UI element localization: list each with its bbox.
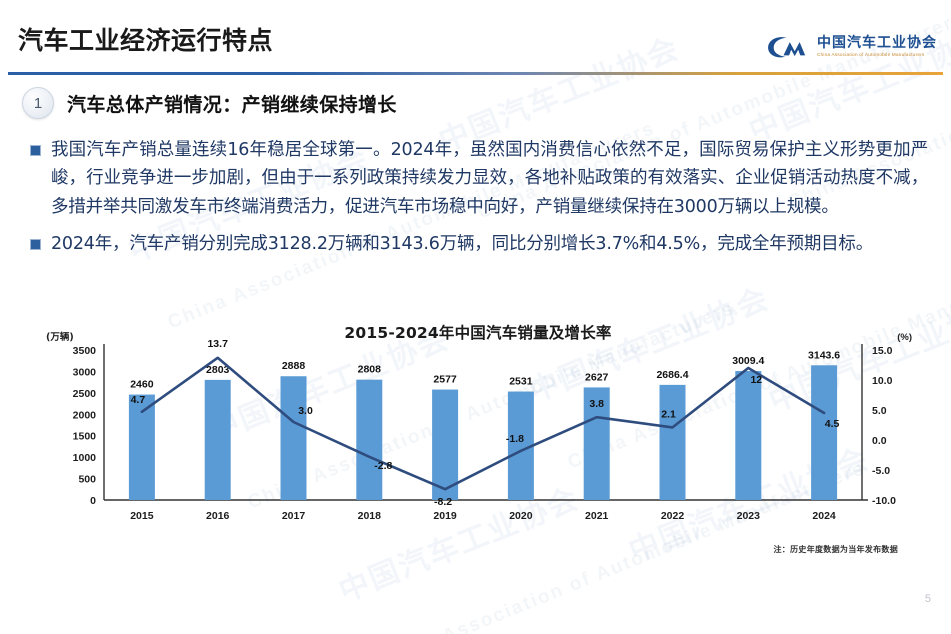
section-title: 汽车总体产销情况：产销继续保持增长 xyxy=(67,90,397,117)
chart-label: 2577 xyxy=(433,374,457,386)
list-item: 我国汽车产销总量连续16年稳居全球第一。2024年，虽然国内消费信心依然不足，国… xyxy=(30,136,928,221)
chart-label: 2627 xyxy=(585,371,609,383)
chart-container: 2015-2024年中国汽车销量及增长率 (万辆) (%) 3500300025… xyxy=(42,318,914,573)
section-number-badge: 1 xyxy=(22,87,54,119)
chart-label: 2460 xyxy=(130,379,154,391)
chart-label: 2022 xyxy=(661,510,685,522)
chart-label: -10.0 xyxy=(872,495,896,507)
title-divider xyxy=(8,72,943,75)
chart-label: -5.0 xyxy=(872,465,890,477)
bullet-text: 我国汽车产销总量连续16年稳居全球第一。2024年，虽然国内消费信心依然不足，国… xyxy=(51,136,928,221)
chart-label: 1000 xyxy=(73,452,97,464)
slide-header: 汽车工业经济运行特点 中国汽车工业协会 China Association of… xyxy=(0,0,951,76)
chart-label: 2021 xyxy=(585,510,609,522)
bar xyxy=(356,380,382,500)
chart-label: 2686.4 xyxy=(656,369,688,381)
page-title: 汽车工业经济运行特点 xyxy=(18,28,273,53)
chart-label: 2020 xyxy=(509,510,533,522)
chart-label: 3009.4 xyxy=(732,355,764,367)
growth-rate-line xyxy=(142,358,824,489)
bar xyxy=(660,385,686,500)
chart-label: 500 xyxy=(78,474,96,486)
brand-name-en: China Association of Automobile Manufact… xyxy=(817,53,937,58)
chart-label: 2531 xyxy=(509,376,533,388)
brand-text: 中国汽车工业协会 China Association of Automobile… xyxy=(817,36,937,58)
bullet-list: 我国汽车产销总量连续16年稳居全球第一。2024年，虽然国内消费信心依然不足，国… xyxy=(30,136,928,267)
square-bullet-icon xyxy=(30,145,41,156)
chart-label: -2.8 xyxy=(374,460,392,472)
chart-label: 3.0 xyxy=(298,405,313,417)
chart-label: 3000 xyxy=(73,366,97,378)
chart-plot: 350030002500200015001000500015.010.05.00… xyxy=(42,318,914,543)
chart-label: 4.5 xyxy=(825,418,840,430)
bar xyxy=(281,376,307,500)
chart-label: 2500 xyxy=(73,388,97,400)
chart-label: 0.0 xyxy=(872,435,887,447)
chart-label: 2024 xyxy=(812,510,836,522)
square-bullet-icon xyxy=(30,239,41,250)
chart-label: 2018 xyxy=(358,510,382,522)
chart-label: 2000 xyxy=(73,409,97,421)
chart-label: 1500 xyxy=(73,431,97,443)
chart-label: 3500 xyxy=(73,345,97,357)
chart-label: 2019 xyxy=(433,510,457,522)
chart-label: 2016 xyxy=(206,510,230,522)
section-heading: 1 汽车总体产销情况：产销继续保持增长 xyxy=(22,87,397,119)
slide: 中国汽车工业协会 China Association of Automobile… xyxy=(0,0,951,634)
chart-label: 3143.6 xyxy=(808,349,840,361)
chart-label: 3.8 xyxy=(589,398,604,410)
chart-label: 2888 xyxy=(282,360,306,372)
chart-label: 12 xyxy=(750,374,762,386)
chart-label: -1.8 xyxy=(506,433,524,445)
chart-label: 2017 xyxy=(282,510,306,522)
chart-label: 2.1 xyxy=(661,408,676,420)
chart-label: -8.2 xyxy=(434,496,452,508)
chart-label: 4.7 xyxy=(131,394,146,406)
brand-name-cn: 中国汽车工业协会 xyxy=(817,36,937,51)
chart-label: 13.7 xyxy=(207,338,228,350)
bullet-text: 2024年，汽车产销分别完成3128.2万辆和3143.6万辆，同比分别增长3.… xyxy=(51,230,873,258)
chart-label: 5.0 xyxy=(872,405,887,417)
chart-label: 2023 xyxy=(737,510,761,522)
bar xyxy=(811,365,837,500)
page-number: 5 xyxy=(925,593,931,605)
caam-logo-icon xyxy=(766,34,808,60)
chart-note: 注：历史年度数据为当年发布数据 xyxy=(774,544,899,555)
chart-label: 0 xyxy=(90,495,96,507)
list-item: 2024年，汽车产销分别完成3128.2万辆和3143.6万辆，同比分别增长3.… xyxy=(30,230,928,258)
chart-label: 10.0 xyxy=(872,375,893,387)
chart-label: 15.0 xyxy=(872,345,893,357)
bar xyxy=(735,371,761,500)
chart-label: 2808 xyxy=(358,364,382,376)
chart-label: 2015 xyxy=(130,510,154,522)
bar xyxy=(205,380,231,500)
brand-logo: 中国汽车工业协会 China Association of Automobile… xyxy=(766,34,937,60)
